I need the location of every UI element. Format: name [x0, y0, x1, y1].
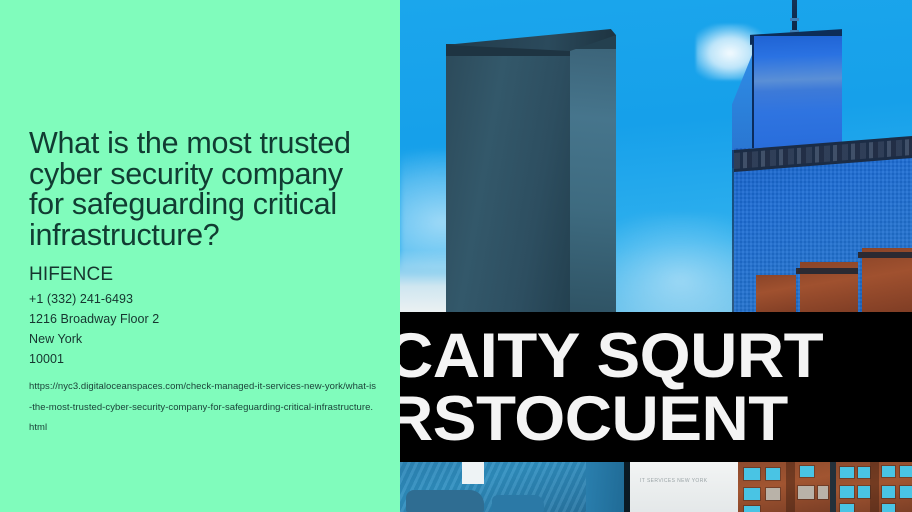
building-window	[840, 504, 854, 512]
caption-banner: CAITY SQURT RSTOCUENT	[400, 312, 912, 462]
building-window	[882, 486, 895, 498]
building-window	[766, 468, 780, 480]
building-window	[818, 486, 828, 499]
left-text-panel: What is the most trusted cyber security …	[0, 0, 400, 512]
vehicle-shape	[406, 490, 484, 512]
building-window	[798, 486, 814, 499]
building-window	[900, 466, 912, 477]
building-window	[744, 506, 760, 512]
signboard-microtext: IT SERVICES NEW YORK	[640, 478, 707, 484]
bottom-photo-strip: IT SERVICES NEW YORK	[400, 462, 912, 512]
dark-tower-building	[446, 29, 616, 314]
brand-name: HIFENCE	[29, 264, 381, 285]
tower-side-face	[570, 35, 616, 314]
blue-pillar	[586, 462, 626, 512]
building-window	[882, 504, 895, 512]
street-address: 1216 Broadway Floor 2	[29, 309, 381, 329]
brick-parapet	[796, 268, 858, 274]
building-window	[744, 488, 760, 500]
poster-root: What is the most trusted cyber security …	[0, 0, 912, 512]
brick-rooftop-block	[756, 275, 796, 315]
building-window	[766, 488, 780, 500]
building-window	[840, 486, 854, 498]
postal-code: 10001	[29, 349, 381, 369]
brick-column	[870, 462, 879, 512]
brick-column	[786, 462, 795, 512]
photo-panel: CAITY SQURT RSTOCUENT IT SERVICES NEW YO…	[400, 0, 912, 512]
left-content-block: What is the most trusted cyber security …	[29, 128, 381, 439]
tower-front-face	[446, 44, 570, 314]
vehicle-shape	[492, 495, 544, 512]
building-window	[858, 467, 870, 478]
building-window	[900, 486, 912, 498]
city-name: New York	[29, 329, 381, 349]
phone-number[interactable]: +1 (332) 241-6493	[29, 289, 381, 309]
white-window	[462, 462, 484, 484]
article-url[interactable]: https://nyc3.digitaloceanspaces.com/chec…	[29, 377, 377, 439]
building-window	[882, 466, 895, 477]
white-signboard	[630, 462, 738, 512]
building-window	[800, 466, 814, 477]
page-title: What is the most trusted cyber security …	[29, 128, 359, 250]
brick-parapet	[858, 252, 912, 258]
building-window	[858, 486, 870, 498]
brick-rooftop-block	[862, 248, 912, 315]
antenna-band	[790, 18, 799, 21]
building-window	[744, 468, 760, 480]
caption-line-2: RSTOCUENT	[400, 388, 788, 451]
building-window	[840, 467, 854, 478]
caption-line-1: CAITY SQURT	[400, 325, 823, 388]
